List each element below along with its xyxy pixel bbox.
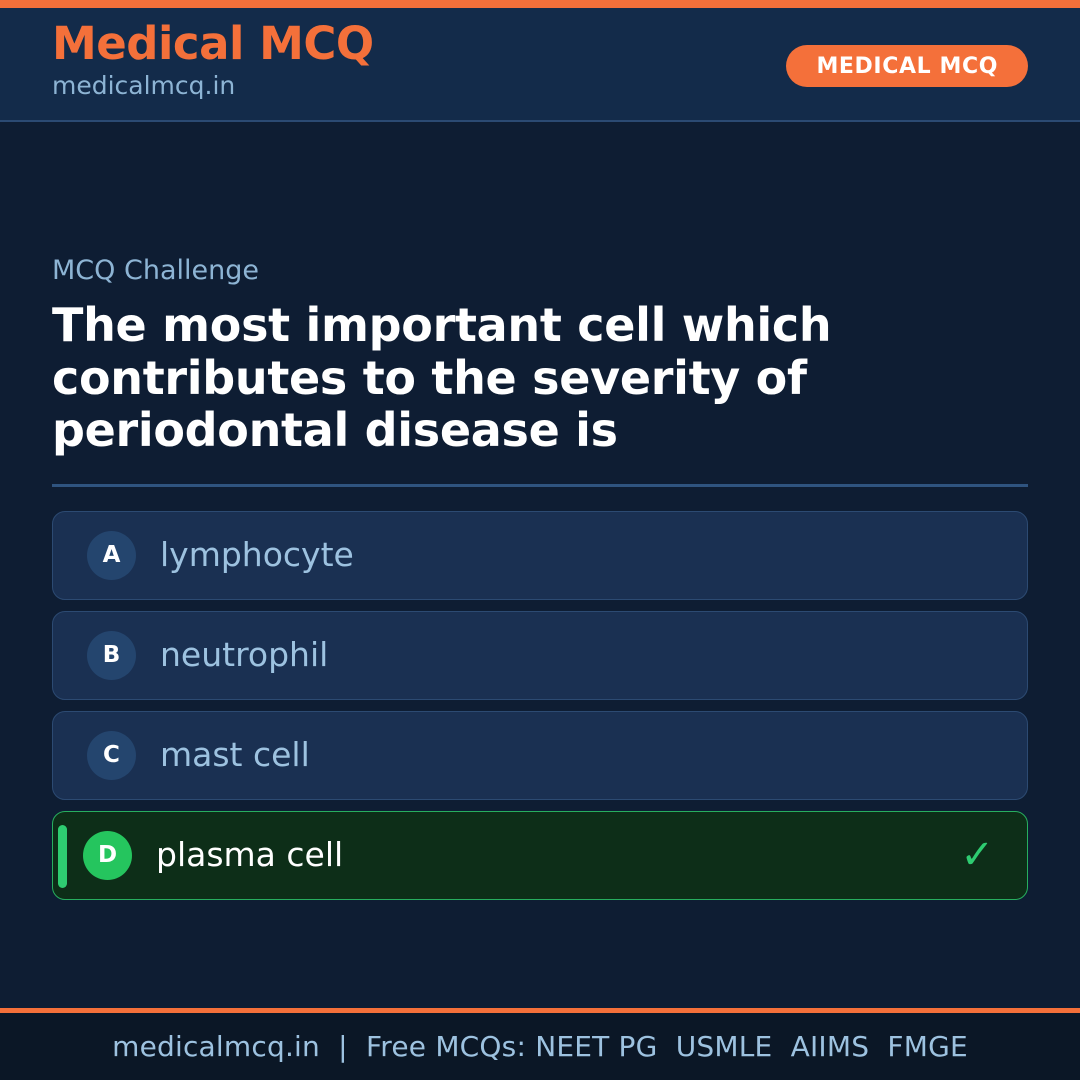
option-letter-badge: B [87, 631, 136, 680]
option-a[interactable]: A lymphocyte [52, 511, 1028, 600]
option-d[interactable]: D plasma cell ✓ [52, 811, 1028, 900]
brand-site: medicalmcq.in [52, 71, 374, 101]
check-icon: ✓ [960, 835, 994, 875]
brand-title: Medical MCQ [52, 20, 374, 67]
option-label: lymphocyte [160, 537, 354, 573]
main-content: MCQ Challenge The most important cell wh… [52, 255, 1028, 911]
options-list: A lymphocyte B neutrophil C mast cell D … [52, 511, 1028, 900]
top-accent-bar [0, 0, 1080, 8]
footer-text: medicalmcq.in | Free MCQs: NEET PG USMLE… [112, 1030, 968, 1063]
correct-accent-bar [58, 825, 67, 888]
question-text: The most important cell which contribute… [52, 299, 1028, 456]
option-label: plasma cell [156, 837, 343, 873]
question-divider [52, 484, 1028, 487]
page-footer: medicalmcq.in | Free MCQs: NEET PG USMLE… [0, 1008, 1080, 1080]
header-badge: MEDICAL MCQ [786, 45, 1028, 87]
option-label: mast cell [160, 737, 310, 773]
page-header: Medical MCQ medicalmcq.in MEDICAL MCQ [0, 8, 1080, 122]
option-label: neutrophil [160, 637, 328, 673]
option-c[interactable]: C mast cell [52, 711, 1028, 800]
option-b[interactable]: B neutrophil [52, 611, 1028, 700]
eyebrow-label: MCQ Challenge [52, 255, 1028, 287]
option-letter-badge: A [87, 531, 136, 580]
option-letter-badge: D [83, 831, 132, 880]
option-letter-badge: C [87, 731, 136, 780]
brand-block: Medical MCQ medicalmcq.in [52, 20, 374, 101]
